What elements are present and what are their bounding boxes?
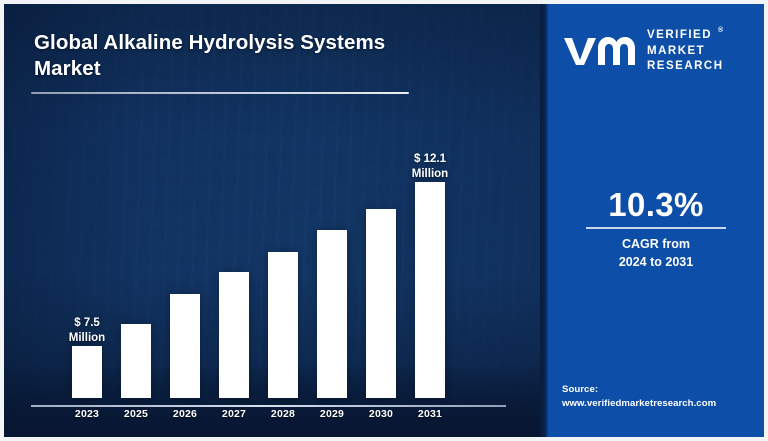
callout-value: $ 12.1	[387, 152, 473, 167]
x-axis-label-2031: 2031	[401, 408, 459, 420]
source-block: Source: www.verifiedmarketresearch.com	[562, 383, 716, 411]
infographic-card: Global Alkaline Hydrolysis Systems Marke…	[0, 0, 768, 441]
bar-2026	[170, 294, 200, 398]
source-label: Source:	[562, 383, 716, 397]
bar-2030	[366, 209, 396, 398]
brand-wordmark: VERIFIED MARKET RESEARCH ®	[647, 28, 724, 75]
cagr-label-line2: 2024 to 2031	[548, 254, 764, 272]
bar-callout-2023: $ 7.5Million	[44, 316, 130, 346]
bar-2028	[268, 252, 298, 398]
cagr-label-line1: CAGR from	[548, 236, 764, 254]
cagr-divider-rule	[586, 227, 726, 229]
bar-2029	[317, 230, 347, 398]
callout-unit: Million	[387, 167, 473, 182]
chart-panel: Global Alkaline Hydrolysis Systems Marke…	[4, 4, 542, 437]
brand-name-line3: RESEARCH	[647, 59, 724, 75]
bar-2027	[219, 272, 249, 398]
bar-2031	[415, 182, 445, 398]
bar-callout-2031: $ 12.1Million	[387, 152, 473, 182]
panel-divider	[540, 4, 548, 437]
bar-2023	[72, 346, 102, 398]
vmr-logo-icon	[562, 34, 638, 68]
callout-value: $ 7.5	[44, 316, 130, 331]
registered-trademark-icon: ®	[718, 26, 723, 36]
x-axis-line	[31, 405, 506, 407]
source-url[interactable]: www.verifiedmarketresearch.com	[562, 397, 716, 411]
brand-name-line1: VERIFIED	[647, 28, 724, 44]
cagr-value: 10.3%	[548, 186, 764, 224]
brand-logo: VERIFIED MARKET RESEARCH ®	[562, 28, 724, 75]
bar-chart: 2023$ 7.5Million202520262027202820292030…	[4, 4, 542, 437]
callout-unit: Million	[44, 331, 130, 346]
cagr-label: CAGR from 2024 to 2031	[548, 236, 764, 272]
brand-panel: VERIFIED MARKET RESEARCH ® 10.3% CAGR fr…	[548, 4, 764, 437]
bar-2025	[121, 324, 151, 398]
brand-name-line2: MARKET	[647, 44, 724, 60]
